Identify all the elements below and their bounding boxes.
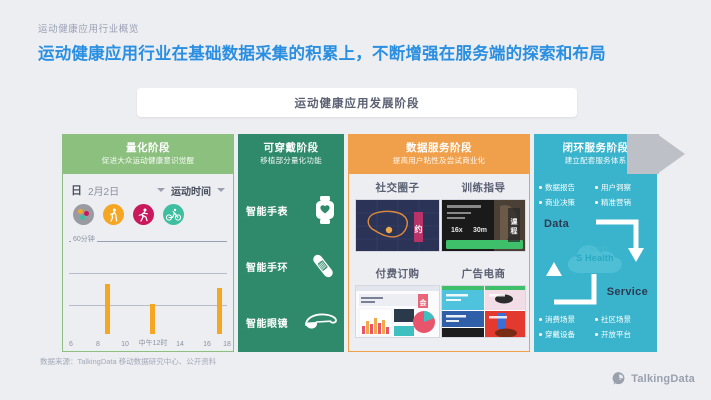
stage-subtitle: 移植部分量化功能 [260,156,322,166]
stage-header-wearable: 可穿戴阶段 移植部分量化功能 [238,134,344,174]
svg-text:16x: 16x [451,227,463,234]
service-cell-subscription: 付费订购 [355,266,440,338]
x-tick-6: 18 [223,341,231,348]
x-tick-1: 8 [96,341,100,348]
svg-text:课: 课 [511,217,519,226]
stage-subtitle: 促进大众运动健康意识觉醒 [102,156,194,166]
talkingdata-logo: TalkingData [612,371,695,386]
column-closed-loop: 数据报告 用户洞察 商业决策 精准营销 Data 小米运动 S Health [534,174,657,352]
bullet-label: 开放平台 [601,329,631,340]
bullet-label: 数据报告 [545,182,575,193]
loop-bottom-bullets: 消费场景 社区场景 穿戴设备 开放平台 [539,312,652,342]
chevron-down-icon[interactable] [157,188,165,192]
paid-subscription-screenshot: 会 [355,285,440,338]
multi-activity-icon[interactable] [73,204,94,225]
walking-icon[interactable] [103,204,124,225]
smart-glasses-icon [304,310,338,334]
slide-root: 运动健康应用行业概览 运动健康应用行业在基础数据采集的积累上，不断增强在服务端的… [0,0,711,400]
column-data-service: 社交圈子 约 [348,174,530,352]
phone-toolbar: 日 2月2日 运动时间 [71,181,225,199]
stage-subtitle: 建立配套服务体系 [565,156,627,166]
stage-title: 可穿戴阶段 [264,142,319,155]
wearable-item-watch: 智能手表 [246,190,338,230]
talkingdata-logo-text: TalkingData [631,373,695,385]
cycling-icon[interactable] [163,204,184,225]
bullet-item: 开放平台 [595,327,651,342]
stage-title: 数据服务阶段 [406,142,472,155]
wearable-item-band: 智能手环 [246,246,338,286]
svg-text:程: 程 [511,226,518,235]
section-banner-label: 运动健康应用发展阶段 [295,95,420,111]
wearable-label: 智能眼镜 [246,315,288,330]
column-quantify: 日 2月2日 运动时间 [62,174,234,352]
bar-0 [105,284,110,334]
service-title: 社交圈子 [355,180,440,195]
smart-watch-icon [312,195,338,225]
data-label: Data [544,218,569,230]
activity-bar-chart: 60分钟 6 8 10 中午12时 14 16 18 [69,234,227,335]
bullet-item: 商业决策 [539,195,595,210]
svg-text:30m: 30m [473,227,487,234]
wearable-label: 智能手表 [246,203,288,218]
stage-header-quantify: 量化阶段 促进大众运动健康意识觉醒 [62,134,234,174]
gridline-label-60: 60分钟 [71,234,97,244]
talkingdata-logo-icon [612,371,627,386]
svg-text:会: 会 [420,298,428,307]
activity-icon-row [73,204,184,225]
smart-band-icon [308,251,338,281]
column-wearable: 智能手表 智能手环 [238,174,344,352]
date-value: 2月2日 [88,183,119,198]
service-cell-social: 社交圈子 约 [355,180,440,252]
stage-title: 闭环服务阶段 [563,142,629,155]
bullet-item: 消费场景 [539,312,595,327]
x-tick-4: 14 [176,341,184,348]
bullet-item: 数据报告 [539,180,595,195]
stage-header-data-service: 数据服务阶段 提高用户粘性及尝试商业化 [348,134,530,174]
wearable-item-glasses: 智能眼镜 [246,302,338,342]
bullet-label: 消费场景 [545,314,575,325]
metric-label: 运动时间 [171,183,211,198]
cloud-icon: 小米运动 S Health [564,240,626,280]
gridline-40 [69,273,227,274]
eyebrow-label: 运动健康应用行业概览 [38,21,139,35]
bullet-item: 用户洞察 [595,180,651,195]
bullet-label: 社区场景 [601,314,631,325]
stage-header-row: 量化阶段 促进大众运动健康意识觉醒 可穿戴阶段 移植部分量化功能 数据服务阶段 … [62,134,657,174]
bullet-item: 精准营销 [595,195,651,210]
x-tick-0: 6 [69,341,73,348]
service-cell-ecommerce: 广告电商 [441,266,526,338]
wearable-label: 智能手环 [246,259,288,274]
bullet-item: 社区场景 [595,312,651,327]
bullet-label: 商业决策 [545,197,575,208]
bullet-label: 用户洞察 [601,182,631,193]
arrow-right-icon [657,134,685,174]
page-title: 运动健康应用行业在基础数据采集的积累上，不断增强在服务端的探索和布局 [38,40,688,64]
gridline-20 [69,305,227,306]
service-title: 训练指导 [441,180,526,195]
section-banner: 运动健康应用发展阶段 [137,88,577,117]
social-circle-screenshot: 约 [355,199,440,252]
service-title: 付费订购 [355,266,440,281]
bar-1 [150,304,155,334]
bullet-label: 精准营销 [601,197,631,208]
chevron-down-icon[interactable] [217,188,225,192]
arrow-tail-box [627,134,659,174]
cloud-brand: S Health [564,253,626,263]
source-note: 数据来源：TalkingData 移动数据研究中心、公开资料 [40,356,216,367]
x-tick-2: 10 [121,341,129,348]
x-tick-3: 中午12时 [139,338,168,348]
stage-title: 量化阶段 [126,142,170,155]
svg-text:约: 约 [415,224,423,234]
loop-top-bullets: 数据报告 用户洞察 商业决策 精准营销 [539,180,652,210]
training-guide-screenshot: 16x 30m 课 程 [441,199,526,252]
cloud-subbrand: 小米运动 [564,244,626,253]
stage-columns: 日 2月2日 运动时间 [62,174,657,352]
service-cell-training: 训练指导 16x 30m [441,180,526,252]
service-title: 广告电商 [441,266,526,281]
bullet-item: 穿戴设备 [539,327,595,342]
bullet-label: 穿戴设备 [545,329,575,340]
stage-subtitle: 提高用户粘性及尝试商业化 [393,156,485,166]
x-tick-5: 16 [203,341,211,348]
running-icon[interactable] [133,204,154,225]
bar-2 [217,288,222,334]
day-label: 日 [71,182,82,198]
ad-ecommerce-screenshot [441,285,526,338]
service-label: Service [607,286,648,298]
